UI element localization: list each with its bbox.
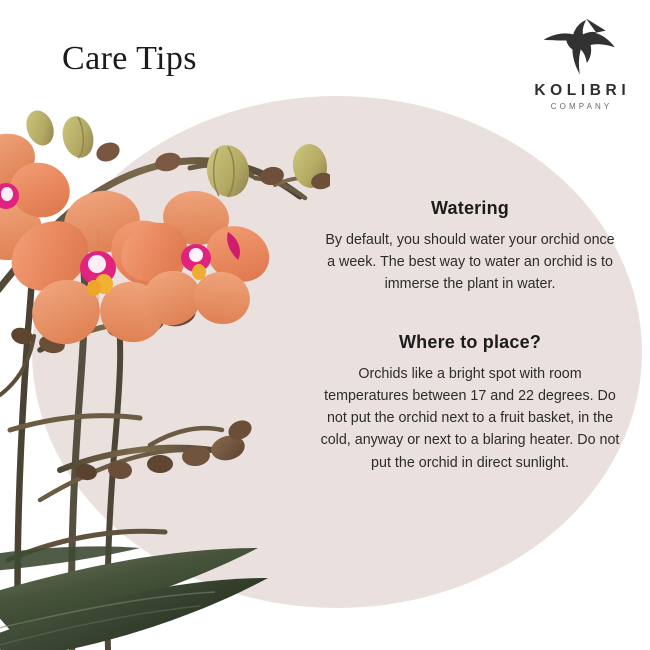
page-title: Care Tips [62, 40, 197, 77]
tip-heading-placement: Where to place? [320, 332, 620, 353]
tip-heading-watering: Watering [320, 198, 620, 219]
tip-body-placement: Orchids like a bright spot with room tem… [320, 363, 620, 474]
tip-section-placement: Where to place? Orchids like a bright sp… [320, 332, 620, 474]
logo-tagline: COMPANY [518, 102, 642, 111]
logo-wordmark: KOLIBRI [518, 82, 642, 100]
tip-section-watering: Watering By default, you should water yo… [320, 198, 620, 295]
care-tips-card: Care Tips KOLIBRI COMPANY Watering By de… [0, 0, 650, 650]
hummingbird-icon [542, 14, 618, 76]
tip-body-watering: By default, you should water your orchid… [320, 229, 620, 295]
brand-logo[interactable]: KOLIBRI COMPANY [518, 14, 642, 111]
